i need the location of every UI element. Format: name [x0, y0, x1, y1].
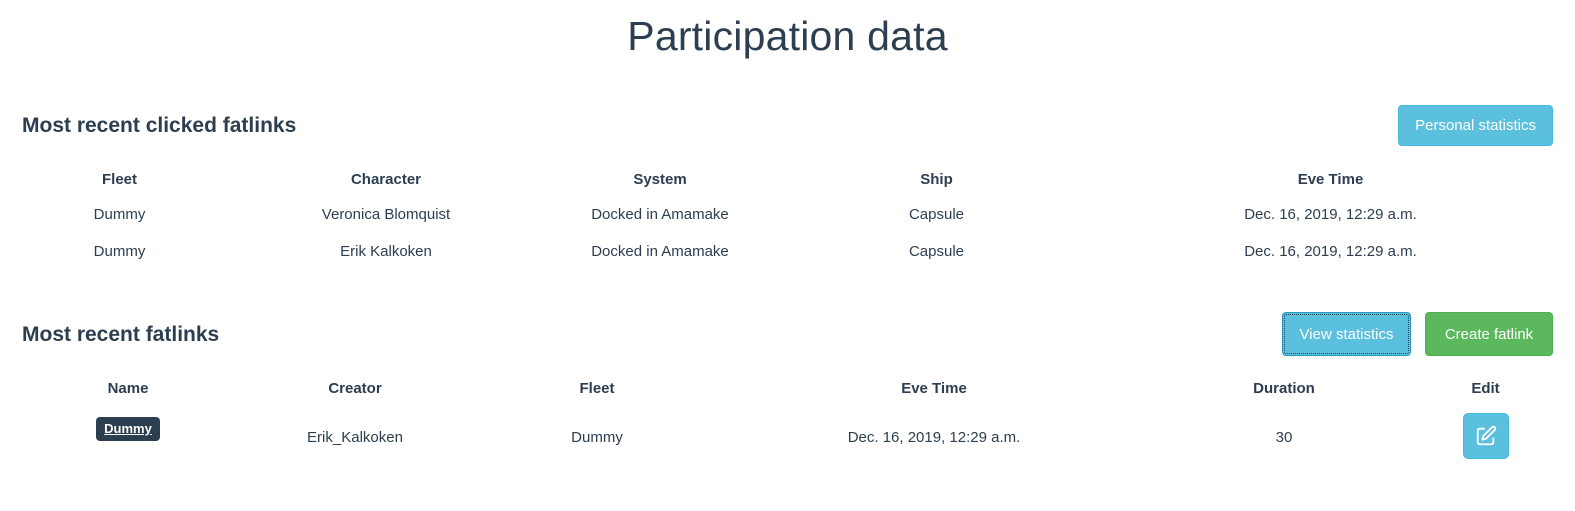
cell-fleet: Dummy — [476, 405, 718, 469]
cell-ship: Capsule — [765, 233, 1108, 270]
table-header-row: Name Creator Fleet Eve Time Duration Edi… — [22, 372, 1553, 405]
cell-system: Docked in Amamake — [555, 196, 765, 233]
edit-fatlink-button[interactable] — [1463, 413, 1509, 459]
column-header-fleet: Fleet — [476, 372, 718, 405]
recent-clicked-fatlinks-table: Fleet Character System Ship Eve Time Dum… — [22, 163, 1553, 270]
cell-duration: 30 — [1150, 405, 1418, 469]
cell-eve-time: Dec. 16, 2019, 12:29 a.m. — [718, 405, 1150, 469]
cell-creator: Erik_Kalkoken — [234, 405, 476, 469]
table-row: Dummy Veronica Blomquist Docked in Amama… — [22, 196, 1553, 233]
section-title-recent-clicked: Most recent clicked fatlinks — [22, 115, 296, 136]
participation-data-page: Participation data Most recent clicked f… — [0, 0, 1575, 511]
cell-fleet: Dummy — [22, 233, 217, 270]
table-row: Dummy Erik_Kalkoken Dummy Dec. 16, 2019,… — [22, 405, 1553, 469]
column-header-character: Character — [217, 163, 555, 196]
column-header-system: System — [555, 163, 765, 196]
personal-statistics-button[interactable]: Personal statistics — [1398, 105, 1553, 146]
cell-system: Docked in Amamake — [555, 233, 765, 270]
view-statistics-button[interactable]: View statistics — [1282, 312, 1411, 356]
pen-to-square-icon — [1475, 425, 1497, 447]
cell-edit — [1418, 405, 1553, 469]
section-header-recent-clicked: Most recent clicked fatlinks Personal st… — [22, 99, 1553, 151]
column-header-ship: Ship — [765, 163, 1108, 196]
column-header-eve-time: Eve Time — [718, 372, 1150, 405]
cell-name: Dummy — [22, 405, 234, 469]
column-header-edit: Edit — [1418, 372, 1553, 405]
cell-fleet: Dummy — [22, 196, 217, 233]
page-title: Participation data — [22, 0, 1553, 57]
cell-character: Erik Kalkoken — [217, 233, 555, 270]
section-title-recent-fatlinks: Most recent fatlinks — [22, 324, 219, 345]
column-header-name: Name — [22, 372, 234, 405]
table-row: Dummy Erik Kalkoken Docked in Amamake Ca… — [22, 233, 1553, 270]
column-header-duration: Duration — [1150, 372, 1418, 405]
cell-eve-time: Dec. 16, 2019, 12:29 a.m. — [1108, 196, 1553, 233]
cell-eve-time: Dec. 16, 2019, 12:29 a.m. — [1108, 233, 1553, 270]
table-header-row: Fleet Character System Ship Eve Time — [22, 163, 1553, 196]
cell-ship: Capsule — [765, 196, 1108, 233]
recent-fatlinks-actions: View statistics Create fatlink — [1282, 312, 1553, 356]
fatlink-name-link[interactable]: Dummy — [104, 421, 152, 436]
recent-clicked-actions: Personal statistics — [1398, 105, 1553, 146]
recent-fatlinks-table: Name Creator Fleet Eve Time Duration Edi… — [22, 372, 1553, 469]
cell-character: Veronica Blomquist — [217, 196, 555, 233]
section-header-recent-fatlinks: Most recent fatlinks View statistics Cre… — [22, 308, 1553, 360]
fatlink-name-badge[interactable]: Dummy — [96, 417, 160, 441]
create-fatlink-button[interactable]: Create fatlink — [1425, 312, 1553, 356]
column-header-fleet: Fleet — [22, 163, 217, 196]
column-header-creator: Creator — [234, 372, 476, 405]
column-header-eve-time: Eve Time — [1108, 163, 1553, 196]
